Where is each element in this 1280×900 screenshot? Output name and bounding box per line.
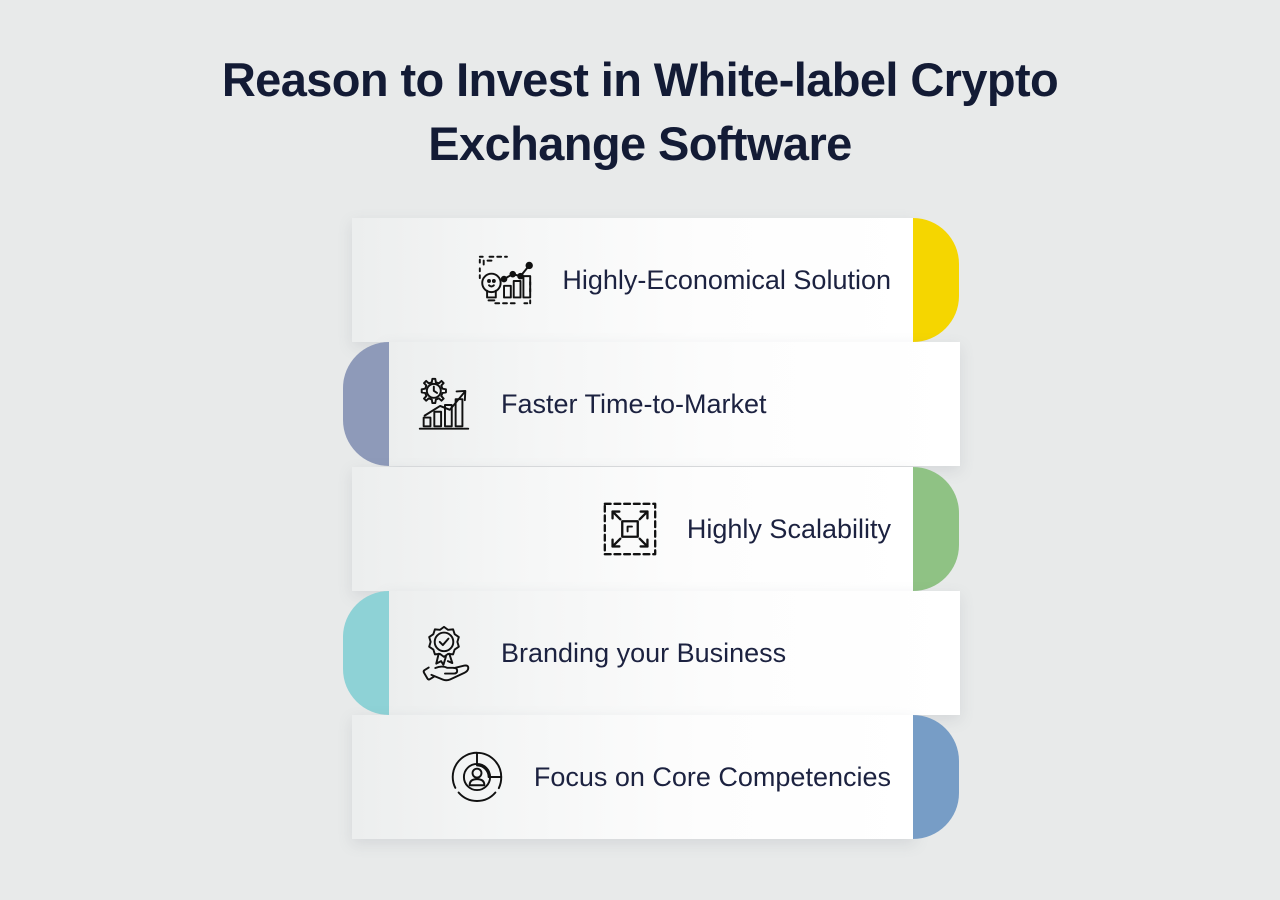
card-label: Highly-Economical Solution [562, 264, 891, 296]
benefit-card-stack: Highly-Economical Solution [0, 218, 1280, 858]
card-content: Highly Scalability [599, 498, 891, 560]
expand-arrows-icon [599, 498, 661, 560]
card-content: Focus on Core Competencies [446, 746, 891, 808]
hand-award-icon [413, 622, 475, 684]
card-accent-cap [913, 218, 959, 342]
gear-clock-growth-icon [413, 373, 475, 435]
card-body: Highly-Economical Solution [352, 218, 915, 342]
infographic-page: Reason to Invest in White-label Crypto E… [0, 0, 1280, 900]
benefit-card-highly-scalability[interactable]: Highly Scalability [352, 467, 959, 591]
card-body: Highly Scalability [352, 467, 915, 591]
card-content: Highly-Economical Solution [474, 249, 891, 311]
card-label: Faster Time-to-Market [501, 388, 767, 420]
benefit-card-highly-economical-solution[interactable]: Highly-Economical Solution [352, 218, 959, 342]
card-label: Focus on Core Competencies [534, 761, 891, 793]
card-content: Faster Time-to-Market [413, 373, 767, 435]
benefit-card-faster-time-to-market[interactable]: Faster Time-to-Market [343, 342, 960, 466]
card-accent-cap [913, 467, 959, 591]
card-body: Branding your Business [385, 591, 960, 715]
card-label: Highly Scalability [687, 513, 891, 545]
card-label: Branding your Business [501, 637, 786, 669]
card-content: Branding your Business [413, 622, 786, 684]
card-accent-cap [343, 591, 389, 715]
card-accent-cap [913, 715, 959, 839]
card-body: Focus on Core Competencies [352, 715, 915, 839]
benefit-card-branding-your-business[interactable]: Branding your Business [343, 591, 960, 715]
lightbulb-chart-icon [474, 249, 536, 311]
card-accent-cap [343, 342, 389, 466]
person-pie-chart-icon [446, 746, 508, 808]
page-title-container: Reason to Invest in White-label Crypto E… [0, 48, 1280, 176]
card-body: Faster Time-to-Market [385, 342, 960, 466]
page-title: Reason to Invest in White-label Crypto E… [150, 48, 1130, 176]
benefit-card-focus-on-core-competencies[interactable]: Focus on Core Competencies [352, 715, 959, 839]
